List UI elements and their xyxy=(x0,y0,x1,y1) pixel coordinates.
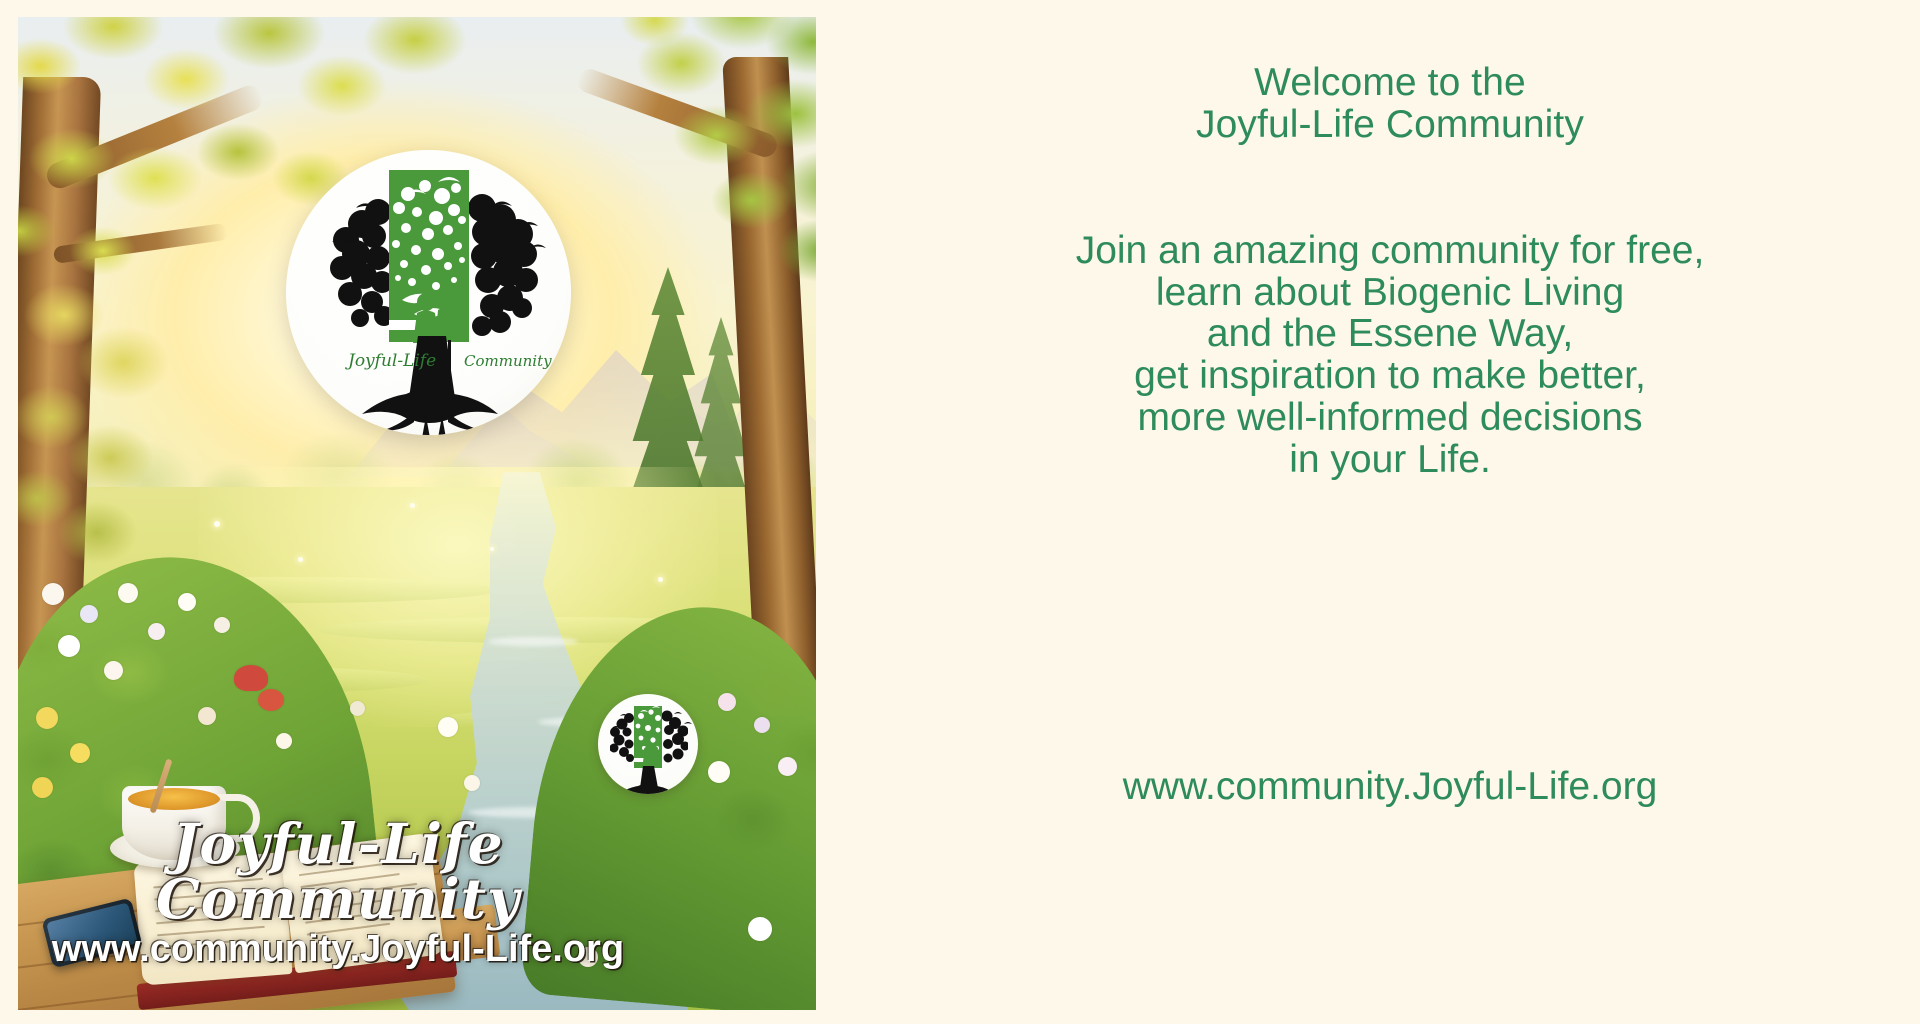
promotional-photo: Joyful-Life Community xyxy=(18,17,816,1010)
joyful-life-community-logo-small xyxy=(598,694,698,794)
headline-line-1: Welcome to the xyxy=(860,62,1920,104)
tea-liquid xyxy=(128,788,220,810)
light-sparkle xyxy=(214,521,220,527)
flower xyxy=(80,605,98,623)
logo-left-word: Joyful-Life xyxy=(345,351,436,371)
flower xyxy=(214,617,230,633)
flower xyxy=(178,593,196,611)
logo-right-word: Community xyxy=(464,352,552,370)
body-line-1: Join an amazing community for free, xyxy=(860,230,1920,272)
flower xyxy=(578,947,598,967)
flower-red xyxy=(258,689,284,711)
website-url-link[interactable]: www.community.Joyful-Life.org xyxy=(860,765,1920,809)
book-page-right xyxy=(280,833,445,974)
flower xyxy=(70,743,90,763)
flower xyxy=(464,775,480,791)
flower-red xyxy=(234,665,268,691)
flower xyxy=(36,707,58,729)
flower xyxy=(754,717,770,733)
copy-column: Welcome to the Joyful-Life Community Joi… xyxy=(860,0,1920,1024)
flower xyxy=(118,583,138,603)
body-line-6: in your Life. xyxy=(860,439,1920,481)
promo-banner: Joyful-Life Community xyxy=(0,0,1920,1024)
flower xyxy=(104,661,123,680)
headline-line-2: Joyful-Life Community xyxy=(860,104,1920,146)
body-copy: Join an amazing community for free, lear… xyxy=(860,230,1920,480)
flower xyxy=(32,777,53,798)
flower xyxy=(350,701,365,716)
water-highlight xyxy=(488,637,578,646)
light-sparkle xyxy=(298,557,303,562)
book-page-left xyxy=(133,852,292,985)
body-line-5: more well-informed decisions xyxy=(860,397,1920,439)
joyful-life-community-logo: Joyful-Life Community xyxy=(286,150,571,435)
headline: Welcome to the Joyful-Life Community xyxy=(860,62,1920,145)
flower xyxy=(718,693,736,711)
cup-handle xyxy=(216,794,260,842)
flower xyxy=(148,623,165,640)
light-sparkle xyxy=(658,577,663,582)
flower xyxy=(778,757,797,776)
flower xyxy=(438,717,458,737)
body-line-2: learn about Biogenic Living xyxy=(860,272,1920,314)
flower xyxy=(276,733,292,749)
body-line-3: and the Essene Way, xyxy=(860,313,1920,355)
light-sparkle xyxy=(410,503,415,508)
flower xyxy=(198,707,216,725)
body-line-4: get inspiration to make better, xyxy=(860,355,1920,397)
flower xyxy=(42,583,64,605)
flower xyxy=(748,917,772,941)
flower xyxy=(58,635,80,657)
light-sparkle xyxy=(490,547,494,551)
flower xyxy=(708,761,730,783)
